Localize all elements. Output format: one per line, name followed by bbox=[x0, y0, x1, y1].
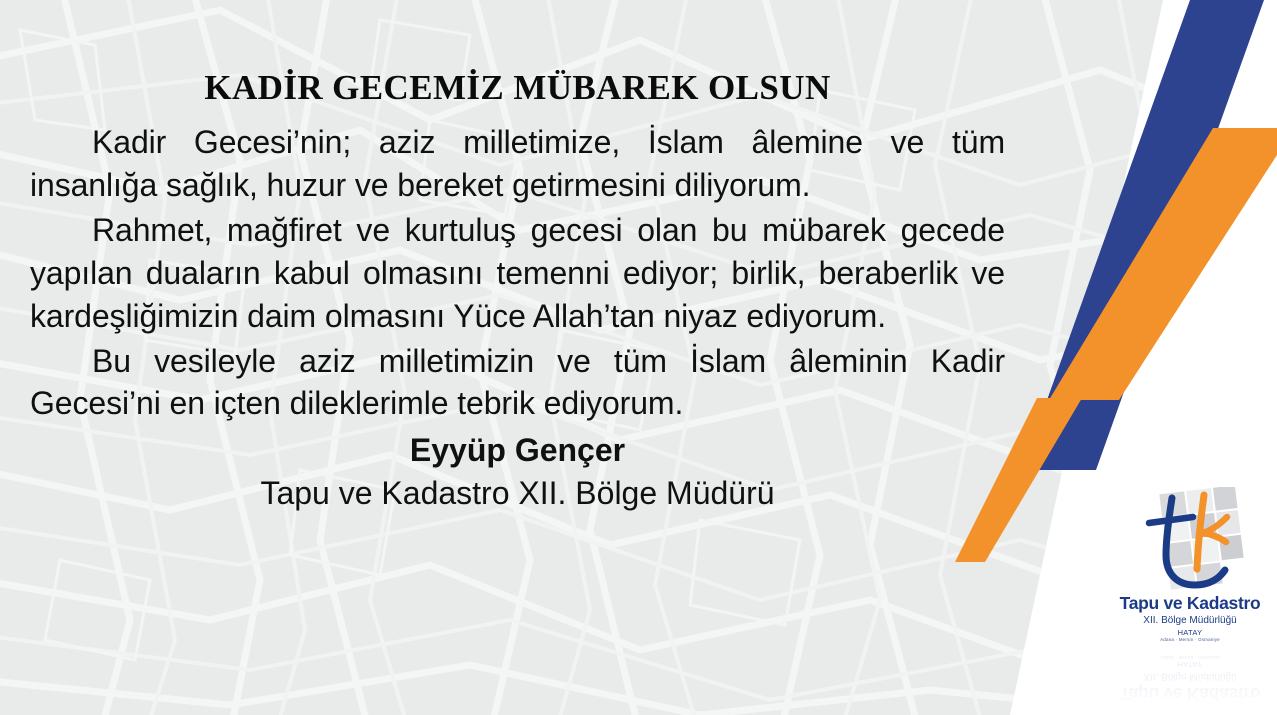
paragraph-2: Rahmet, mağfiret ve kurtuluş gecesi olan… bbox=[30, 209, 1005, 338]
message-body: KADİR GECEMİZ MÜBAREK OLSUN Kadir Gecesi… bbox=[30, 68, 1005, 514]
paragraph-3: Bu vesileyle aziz milletimizin ve tüm İs… bbox=[30, 340, 1005, 426]
paragraph-1: Kadir Gecesi’nin; aziz milletimize, İsla… bbox=[30, 121, 1005, 207]
organization-logo: Tapu ve Kadastro XII. Bölge Müdürlüğü HA… bbox=[1104, 487, 1276, 642]
tk-monogram-icon bbox=[1131, 487, 1249, 591]
slide-canvas: KADİR GECEMİZ MÜBAREK OLSUN Kadir Gecesi… bbox=[0, 0, 1277, 715]
logo-subregions: Adana · Mersin · Osmaniye bbox=[1104, 637, 1276, 642]
logo-province: HATAY bbox=[1104, 628, 1276, 637]
signatory-role: Tapu ve Kadastro XII. Bölge Müdürü bbox=[30, 472, 1005, 514]
signatory-name: Eyyüp Gençer bbox=[30, 429, 1005, 471]
logo-organization-name: Tapu ve Kadastro bbox=[1104, 593, 1276, 614]
signature-block: Eyyüp Gençer Tapu ve Kadastro XII. Bölge… bbox=[30, 429, 1005, 513]
logo-directorate: XII. Bölge Müdürlüğü bbox=[1104, 615, 1276, 626]
page-title: KADİR GECEMİZ MÜBAREK OLSUN bbox=[30, 68, 1005, 107]
